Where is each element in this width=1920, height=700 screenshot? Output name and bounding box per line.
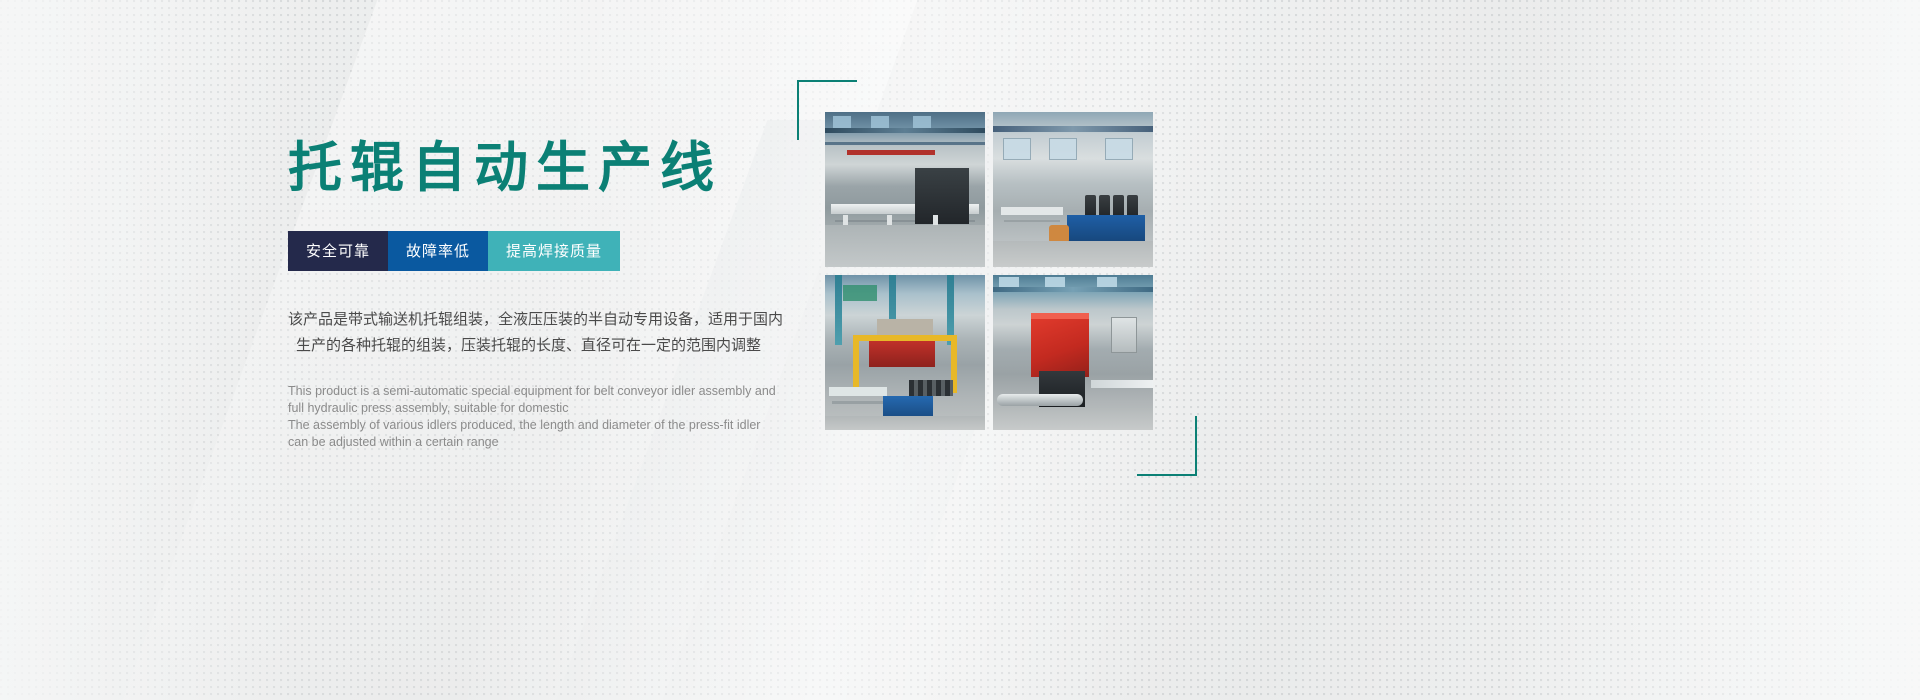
feature-badge-low-failure-rate[interactable]: 故障率低 <box>388 231 488 271</box>
gallery-photo-1[interactable] <box>825 112 985 267</box>
photo4-red-welding-machine <box>1031 319 1089 377</box>
photo4-window-c <box>1097 277 1117 287</box>
photo2-floor <box>993 241 1153 267</box>
photo3-green-equipment <box>843 285 877 301</box>
product-banner: 托辊自动生产线 安全可靠 故障率低 提高焊接质量 该产品是带式输送机托辊组装，全… <box>0 0 1920 700</box>
photo1-ceiling-beam-secondary <box>825 142 985 145</box>
photo4-window-b <box>1045 277 1065 287</box>
photo3-pipe-a <box>835 275 842 345</box>
feature-badge-row: 安全可靠 故障率低 提高焊接质量 <box>288 231 758 271</box>
gallery-photo-3[interactable] <box>825 275 985 430</box>
photo2-window-a <box>1003 138 1031 160</box>
photo4-ceiling-beam <box>993 287 1153 292</box>
feature-badge-improved-welding-quality[interactable]: 提高焊接质量 <box>488 231 620 271</box>
photo1-machine-unit <box>915 168 969 224</box>
photo1-window-a <box>833 116 851 128</box>
page-title: 托辊自动生产线 <box>288 140 758 197</box>
description-english-line-1: This product is a semi-automatic special… <box>288 383 758 400</box>
photo3-yellow-frame-left <box>853 335 859 393</box>
photo2-window-c <box>1105 138 1133 160</box>
photo2-blue-crate <box>1067 215 1145 241</box>
photo3-floor <box>825 416 985 430</box>
photo2-ceiling-beam <box>993 126 1153 132</box>
decorative-left-fade <box>0 0 300 700</box>
description-chinese-line-2: 生产的各种托辊的组装，压装托辊的长度、直径可在一定的范围内调整 <box>288 333 738 359</box>
photo4-floor <box>993 408 1153 430</box>
description-english-line-4: can be adjusted within a certain range <box>288 434 758 451</box>
description-chinese-line-1: 该产品是带式输送机托辊组装，全液压压装的半自动专用设备，适用于国内 <box>288 307 738 333</box>
photo3-roller-stack <box>909 380 953 396</box>
photo1-ceiling-beam <box>825 128 985 133</box>
photo4-control-panel <box>1111 317 1137 353</box>
description-chinese: 该产品是带式输送机托辊组装，全液压压装的半自动专用设备，适用于国内 生产的各种托… <box>288 307 738 359</box>
photo1-window-c <box>913 116 931 128</box>
photo3-workbench <box>829 387 887 396</box>
feature-badge-safe-reliable[interactable]: 安全可靠 <box>288 231 388 271</box>
product-photo-gallery <box>797 80 1191 470</box>
photo-grid <box>825 112 1153 432</box>
description-english: This product is a semi-automatic special… <box>288 383 758 451</box>
photo4-window-a <box>999 277 1019 287</box>
photo1-window-b <box>871 116 889 128</box>
decorative-right-fade <box>1500 0 1920 700</box>
photo3-blue-crate <box>883 396 933 418</box>
description-english-line-3: The assembly of various idlers produced,… <box>288 417 758 434</box>
photo4-idler-shaft <box>997 394 1083 406</box>
gallery-photo-2[interactable] <box>993 112 1153 267</box>
photo1-floor <box>825 225 985 267</box>
photo2-workbench <box>1001 207 1063 215</box>
gallery-photo-4[interactable] <box>993 275 1153 430</box>
description-english-line-2: full hydraulic press assembly, suitable … <box>288 400 758 417</box>
photo2-window-b <box>1049 138 1077 160</box>
banner-text-column: 托辊自动生产线 安全可靠 故障率低 提高焊接质量 该产品是带式输送机托辊组装，全… <box>288 140 758 451</box>
photo3-red-machine <box>869 341 935 367</box>
photo4-conveyor <box>1091 380 1153 388</box>
photo1-red-banner <box>847 150 935 155</box>
